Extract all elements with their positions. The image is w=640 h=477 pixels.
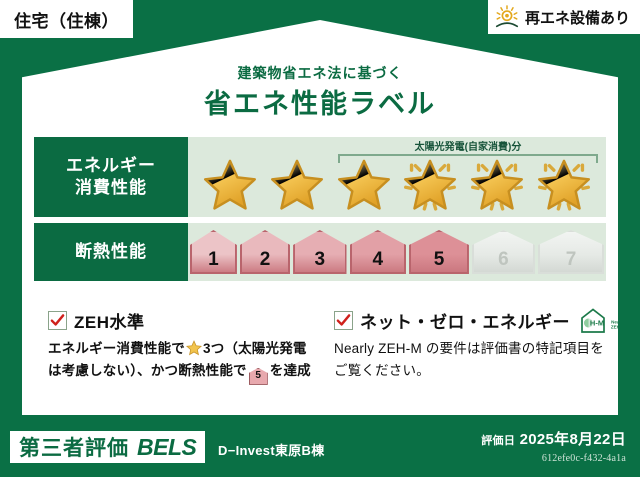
insulation-label: 断熱性能: [75, 241, 147, 263]
bels-en-label: BELS: [137, 434, 196, 461]
zeh-standard-checkbox: [48, 311, 67, 330]
renewable-equipment-tag-label: 再エネ設備あり: [525, 7, 630, 28]
star-icon: [199, 156, 261, 214]
label-panel: 建築物省エネ法に基づく 省エネ性能ラベル エネルギー 消費性能 太陽光発電(自家…: [22, 20, 618, 415]
bels-jp-label: 第三者評価: [19, 432, 129, 462]
net-zero-energy-title: ネット・ゼロ・エネルギー: [360, 308, 570, 333]
energy-label-line1: エネルギー: [66, 155, 156, 177]
insulation-badge-2: 2: [240, 230, 290, 274]
star-icon: [266, 156, 328, 214]
label-subtitle: 建築物省エネ法に基づく: [22, 63, 618, 83]
insulation-performance-value: 1234567: [188, 223, 606, 281]
insulation-badge-5: 5: [409, 230, 469, 274]
svg-text:H-M: H-M: [590, 319, 604, 328]
inline-star-icon: [186, 340, 202, 356]
energy-performance-value: 太陽光発電(自家消費)分: [188, 137, 606, 217]
insulation-badge-list: 1234567: [188, 223, 606, 281]
zeh-standard-note: ZEH水準 エネルギー消費性能で3つ（太陽光発電は考慮しない）、かつ断熱性能で5…: [48, 308, 318, 385]
insulation-performance-row: 断熱性能 1234567: [34, 223, 606, 281]
label-uid: 612efe0c-f432-4a1a: [542, 453, 626, 464]
net-zero-energy-body: Nearly ZEH-M の要件は評価書の特記項目をご覧ください。: [334, 338, 604, 382]
insulation-badge-4: 4: [350, 230, 407, 274]
inline-insulation-badge: 5: [249, 368, 268, 385]
star-icon: [466, 156, 528, 214]
sun-icon: [494, 5, 520, 29]
star-icon: [333, 156, 395, 214]
bels-badge: 第三者評価 BELS: [10, 431, 205, 463]
star-icon: [399, 156, 461, 214]
renewable-equipment-tag: 再エネ設備あり: [488, 0, 640, 34]
building-type-tag: 住宅（住棟）: [0, 0, 133, 38]
star-icon: [533, 156, 595, 214]
svg-text:Nearly: Nearly: [611, 320, 625, 325]
insulation-badge-3: 3: [293, 230, 346, 274]
footer-bar: 第三者評価 BELS D−Invest東原B棟 評価日 2025年8月22日 6…: [0, 415, 640, 477]
energy-performance-row: エネルギー 消費性能 太陽光発電(自家消費)分: [34, 137, 606, 217]
insulation-badge-6: 6: [472, 230, 535, 274]
energy-performance-label: 建築物省エネ法に基づく 省エネ性能ラベル エネルギー 消費性能 太陽光発電(自家…: [0, 0, 640, 477]
star-rating: [188, 155, 606, 215]
page-title: 省エネ性能ラベル: [22, 82, 618, 121]
solar-generation-note: 太陽光発電(自家消費)分: [336, 138, 600, 153]
evaluation-date-label: 評価日: [481, 435, 515, 447]
zeh-body-part1: エネルギー消費性能で: [48, 341, 185, 356]
evaluation-date-value: 2025年8月22日: [520, 431, 626, 448]
net-zero-energy-checkbox: [334, 311, 353, 330]
building-name: D−Invest東原B棟: [218, 440, 325, 459]
zeh-standard-title: ZEH水準: [74, 308, 145, 333]
svg-text:ZEH-M: ZEH-M: [611, 325, 625, 330]
zeh-m-logo-icon: H-M Nearly ZEH-M: [579, 307, 631, 333]
net-zero-energy-note: ネット・ゼロ・エネルギー H-M Nearly ZEH-M: [334, 308, 604, 385]
zeh-standard-body: エネルギー消費性能で3つ（太陽光発電は考慮しない）、かつ断熱性能で5を達成: [48, 338, 318, 385]
criteria-notes: ZEH水準 エネルギー消費性能で3つ（太陽光発電は考慮しない）、かつ断熱性能で5…: [48, 308, 604, 385]
energy-performance-label-key: エネルギー 消費性能: [34, 137, 188, 217]
insulation-performance-label-key: 断熱性能: [34, 223, 188, 281]
zeh-body-part3: を達成: [270, 363, 311, 378]
insulation-badge-7: 7: [538, 230, 604, 274]
insulation-badge-1: 1: [190, 230, 237, 274]
evaluation-date: 評価日 2025年8月22日: [481, 428, 626, 449]
energy-label-line2: 消費性能: [75, 177, 147, 199]
